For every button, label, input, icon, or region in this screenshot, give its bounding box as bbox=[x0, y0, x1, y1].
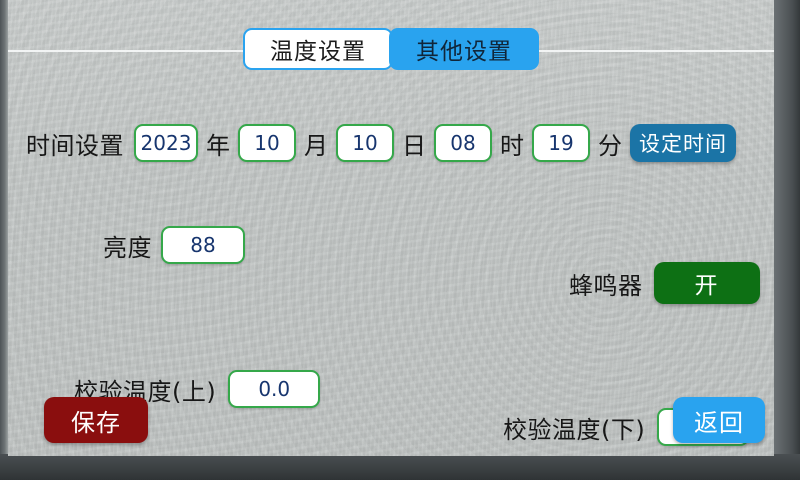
buzzer-toggle-button[interactable]: 开 bbox=[654, 262, 760, 304]
device-frame: 温度设置 其他设置 时间设置 2023 年 10 月 10 日 08 时 19 … bbox=[0, 0, 800, 480]
set-time-button[interactable]: 设定时间 bbox=[630, 124, 736, 162]
minute-unit-label: 分 bbox=[598, 126, 622, 161]
year-unit-label: 年 bbox=[206, 126, 230, 161]
tab-other-settings[interactable]: 其他设置 bbox=[389, 28, 539, 70]
calibration-upper-input[interactable]: 0.0 bbox=[228, 370, 320, 408]
day-unit-label: 日 bbox=[402, 126, 426, 161]
tab-temperature-settings[interactable]: 温度设置 bbox=[243, 28, 393, 70]
buzzer-label: 蜂鸣器 bbox=[569, 266, 643, 301]
save-button[interactable]: 保存 bbox=[44, 397, 148, 443]
bezel-right bbox=[774, 0, 800, 480]
hour-input[interactable]: 08 bbox=[434, 124, 492, 162]
brightness-label: 亮度 bbox=[103, 228, 152, 263]
calibration-upper-row: 校验温度(上) 0.0 bbox=[74, 370, 774, 408]
save-button-wrap: 保存 bbox=[44, 397, 148, 443]
day-input[interactable]: 10 bbox=[336, 124, 394, 162]
buzzer-row: 蜂鸣器 开 bbox=[569, 262, 774, 304]
brightness-input[interactable]: 88 bbox=[161, 226, 245, 264]
time-settings-row: 时间设置 2023 年 10 月 10 日 08 时 19 分 设定时间 bbox=[26, 124, 774, 162]
month-unit-label: 月 bbox=[304, 126, 328, 161]
back-button[interactable]: 返回 bbox=[673, 397, 765, 443]
time-settings-label: 时间设置 bbox=[26, 126, 124, 161]
brightness-row: 亮度 88 bbox=[103, 226, 774, 264]
screen-content: 温度设置 其他设置 时间设置 2023 年 10 月 10 日 08 时 19 … bbox=[8, 0, 774, 456]
month-input[interactable]: 10 bbox=[238, 124, 296, 162]
tab-bar: 温度设置 其他设置 bbox=[8, 28, 774, 70]
hour-unit-label: 时 bbox=[500, 126, 524, 161]
bezel-bottom bbox=[0, 454, 800, 480]
bezel-left bbox=[0, 0, 8, 480]
minute-input[interactable]: 19 bbox=[532, 124, 590, 162]
back-button-wrap: 返回 bbox=[673, 397, 765, 443]
year-input[interactable]: 2023 bbox=[134, 124, 198, 162]
calibration-lower-label: 校验温度(下) bbox=[503, 410, 645, 445]
